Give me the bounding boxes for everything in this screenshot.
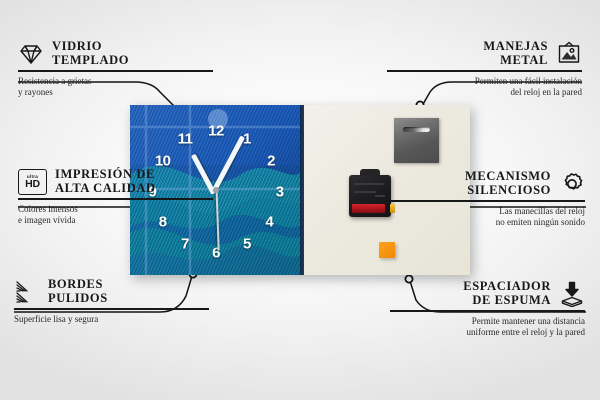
feature-rule: [390, 310, 585, 312]
feature-title-line2: TEMPLADO: [52, 54, 129, 68]
feature-title-line1: MANEJAS: [483, 40, 548, 54]
feature-description: Permite mantener una distancia uniforme …: [390, 316, 585, 338]
foam-spacer: [379, 242, 395, 258]
feature-title-line1: ESPACIADOR: [463, 280, 551, 294]
foam-spacer-arrow-icon: [559, 281, 585, 307]
clock-numeral-5: 5: [243, 236, 251, 253]
feature-manejas-metal[interactable]: MANEJAS METAL Permiten una fácil instala…: [387, 40, 582, 98]
feature-description: Superficie lisa y segura: [14, 314, 209, 325]
infographic-stage: 12 1 2 3 4 5 6 7 8 9 10 11: [0, 0, 600, 400]
clock-numeral-3: 3: [276, 183, 284, 200]
feature-espaciador-espuma[interactable]: ESPACIADOR DE ESPUMA Permite mantener un…: [390, 280, 585, 338]
clock-numeral-4: 4: [265, 214, 273, 231]
feature-title-line1: VIDRIO: [52, 40, 129, 54]
feature-rule: [390, 200, 585, 202]
feature-rule: [18, 70, 213, 72]
clock-numeral-7: 7: [181, 236, 189, 253]
gear-icon: [559, 171, 585, 197]
feature-title-line1: IMPRESIÓN DE: [55, 168, 156, 182]
feature-bordes-pulidos[interactable]: BORDES PULIDOS Superficie lisa y segura: [14, 278, 209, 325]
metal-hanger: [394, 118, 439, 163]
mechanism-tab: [360, 169, 380, 176]
mechanism-detail-line: [354, 183, 384, 185]
mechanism-detail-line: [354, 191, 376, 193]
feature-impresion-alta-calidad[interactable]: ultra HD IMPRESIÓN DE ALTA CALIDAD Color…: [18, 168, 213, 226]
feature-title-line2: METAL: [483, 54, 548, 68]
feature-rule: [18, 198, 213, 200]
picture-frame-hanger-icon: [556, 41, 582, 67]
feature-description: Permiten una fácil instalación del reloj…: [387, 76, 582, 98]
feature-rule: [14, 308, 209, 310]
clock-numeral-11: 11: [178, 131, 193, 148]
feature-title-line2: SILENCIOSO: [465, 184, 551, 198]
feature-title-line2: DE ESPUMA: [463, 294, 551, 308]
mechanism-detail-line: [375, 195, 385, 197]
feature-description: Resistencia a grietas y rayones: [18, 76, 213, 98]
feature-title-line1: MECANISMO: [465, 170, 551, 184]
diamond-icon: [18, 41, 44, 67]
feature-mecanismo-silencioso[interactable]: MECANISMO SILENCIOSO Las manecillas del …: [390, 170, 585, 228]
feature-vidrio-templado[interactable]: VIDRIO TEMPLADO Resistencia a grietas y …: [18, 40, 213, 98]
feature-title-line1: BORDES: [48, 278, 108, 292]
clock-numeral-12: 12: [208, 122, 224, 139]
feature-title-line2: PULIDOS: [48, 292, 108, 306]
feature-rule: [387, 70, 582, 72]
feature-description: Las manecillas del reloj no emiten ningú…: [390, 206, 585, 228]
polished-edges-icon: [14, 279, 40, 305]
hanger-slot: [403, 127, 430, 132]
battery: [352, 204, 385, 213]
ultra-hd-icon-main-text: HD: [25, 179, 40, 190]
clock-numeral-2: 2: [267, 153, 275, 170]
feature-title-line2: ALTA CALIDAD: [55, 182, 156, 196]
clock-mechanism: [349, 175, 391, 217]
clock-center-pin: [213, 187, 219, 193]
feature-description: Colores intensos e imagen vívida: [18, 204, 213, 226]
ultra-hd-icon: ultra HD: [18, 169, 47, 195]
